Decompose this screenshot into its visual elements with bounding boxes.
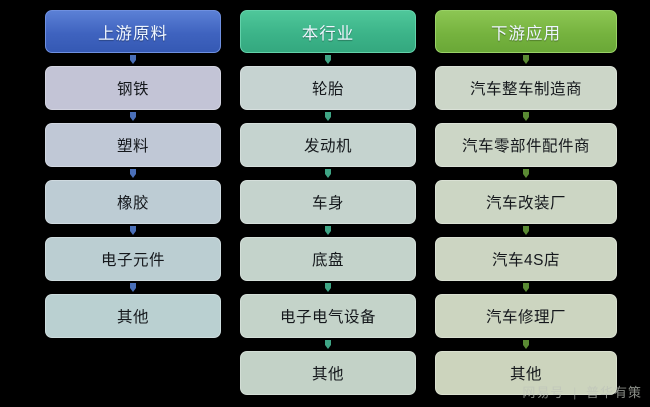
arrow-down-icon	[435, 53, 617, 66]
column-header-industry[interactable]: 本行业	[240, 10, 416, 53]
arrow-down-icon	[45, 110, 221, 123]
node-box[interactable]: 发动机	[240, 123, 416, 167]
arrow-down-icon	[240, 110, 416, 123]
node-box[interactable]: 钢铁	[45, 66, 221, 110]
arrow-down-icon	[240, 281, 416, 294]
column-header-upstream[interactable]: 上游原料	[45, 10, 221, 53]
arrow-down-icon	[45, 281, 221, 294]
arrow-down-icon	[240, 338, 416, 351]
node-box[interactable]: 汽车零部件配件商	[435, 123, 617, 167]
arrow-glyph	[130, 55, 136, 64]
node-box[interactable]: 汽车改装厂	[435, 180, 617, 224]
node-box[interactable]: 其他	[240, 351, 416, 395]
arrow-glyph	[325, 340, 331, 349]
arrow-glyph	[325, 112, 331, 121]
arrow-glyph	[523, 55, 529, 64]
arrow-down-icon	[45, 53, 221, 66]
arrow-down-icon	[435, 167, 617, 180]
arrow-glyph	[325, 283, 331, 292]
node-box[interactable]: 电子元件	[45, 237, 221, 281]
arrow-down-icon	[240, 167, 416, 180]
node-box[interactable]: 汽车修理厂	[435, 294, 617, 338]
node-box[interactable]: 汽车4S店	[435, 237, 617, 281]
arrow-glyph	[523, 169, 529, 178]
arrow-glyph	[130, 169, 136, 178]
node-box[interactable]: 其他	[45, 294, 221, 338]
arrow-down-icon	[435, 110, 617, 123]
column-industry: 本行业轮胎发动机车身底盘电子电气设备其他	[240, 0, 416, 395]
arrow-glyph	[325, 55, 331, 64]
arrow-glyph	[130, 226, 136, 235]
node-box[interactable]: 车身	[240, 180, 416, 224]
node-box[interactable]: 塑料	[45, 123, 221, 167]
node-box[interactable]: 底盘	[240, 237, 416, 281]
industry-chain-diagram: 上游原料钢铁塑料橡胶电子元件其他本行业轮胎发动机车身底盘电子电气设备其他下游应用…	[0, 0, 650, 407]
arrow-down-icon	[435, 224, 617, 237]
arrow-glyph	[523, 283, 529, 292]
node-box[interactable]: 橡胶	[45, 180, 221, 224]
column-header-downstream[interactable]: 下游应用	[435, 10, 617, 53]
column-downstream: 下游应用汽车整车制造商汽车零部件配件商汽车改装厂汽车4S店汽车修理厂其他	[435, 0, 617, 395]
node-box[interactable]: 汽车整车制造商	[435, 66, 617, 110]
arrow-glyph	[523, 340, 529, 349]
arrow-glyph	[130, 283, 136, 292]
arrow-down-icon	[435, 338, 617, 351]
arrow-down-icon	[240, 224, 416, 237]
column-upstream: 上游原料钢铁塑料橡胶电子元件其他	[45, 0, 221, 338]
arrow-down-icon	[240, 53, 416, 66]
arrow-down-icon	[45, 224, 221, 237]
arrow-glyph	[130, 112, 136, 121]
node-box[interactable]: 其他	[435, 351, 617, 395]
arrow-glyph	[325, 226, 331, 235]
node-box[interactable]: 轮胎	[240, 66, 416, 110]
arrow-down-icon	[45, 167, 221, 180]
arrow-glyph	[325, 169, 331, 178]
arrow-glyph	[523, 226, 529, 235]
node-box[interactable]: 电子电气设备	[240, 294, 416, 338]
arrow-glyph	[523, 112, 529, 121]
arrow-down-icon	[435, 281, 617, 294]
